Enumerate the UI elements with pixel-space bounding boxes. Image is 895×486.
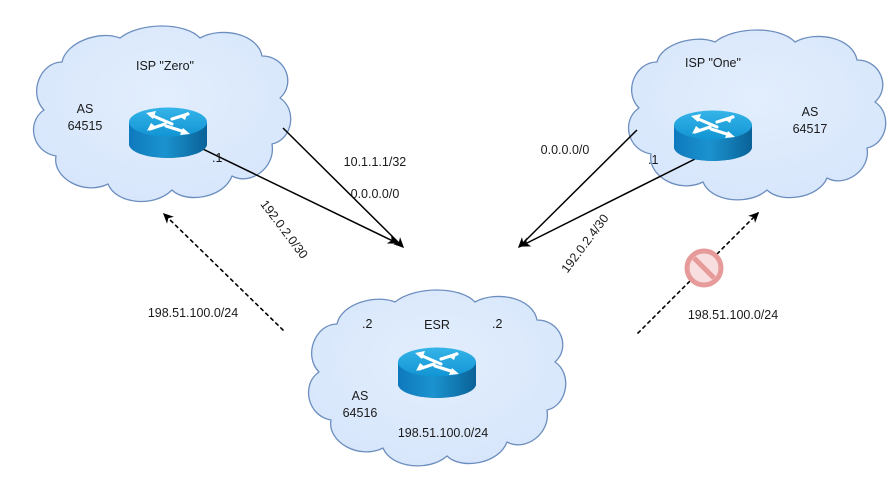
cloud-title-isp-zero: ISP "Zero" (105, 59, 225, 74)
as-number-isp-zero: 64515 (55, 119, 115, 134)
router-icon-esr (398, 348, 476, 399)
network-label-esr: 198.51.100.0/24 (383, 426, 503, 441)
route-labels-one-to-esr: 0.0.0.0/0 (520, 143, 610, 158)
as-number-isp-one: 64517 (780, 122, 840, 137)
route-labels-zero-to-esr: 10.1.1.1/32 0.0.0.0/0 (316, 138, 420, 218)
interface-label-isp-one: .1 (648, 153, 672, 168)
advert-label-esr-to-zero: 198.51.100.0/24 (133, 306, 253, 321)
interface-label-esr-left: .2 (362, 317, 382, 332)
no-entry-icon (687, 251, 721, 285)
interface-label-esr-right: .2 (492, 317, 512, 332)
cloud-title-isp-one: ISP "One" (653, 56, 773, 71)
router-icon-isp-one (674, 111, 752, 162)
interface-label-isp-zero: .1 (212, 151, 236, 166)
as-label-esr: AS (330, 389, 390, 404)
cloud-title-esr: ESR (404, 318, 470, 333)
route-line-1: 10.1.1.1/32 (344, 155, 407, 169)
as-number-esr: 64516 (330, 406, 390, 421)
as-label-isp-one: AS (780, 105, 840, 120)
as-label-isp-zero: AS (55, 102, 115, 117)
network-diagram-canvas: ISP "Zero" AS 64515 .1 ISP "One" AS 6451… (0, 0, 895, 486)
route-line-2: 0.0.0.0/0 (351, 187, 400, 201)
advert-label-esr-to-one: 198.51.100.0/24 (673, 308, 793, 323)
router-icon-isp-zero (129, 108, 207, 159)
